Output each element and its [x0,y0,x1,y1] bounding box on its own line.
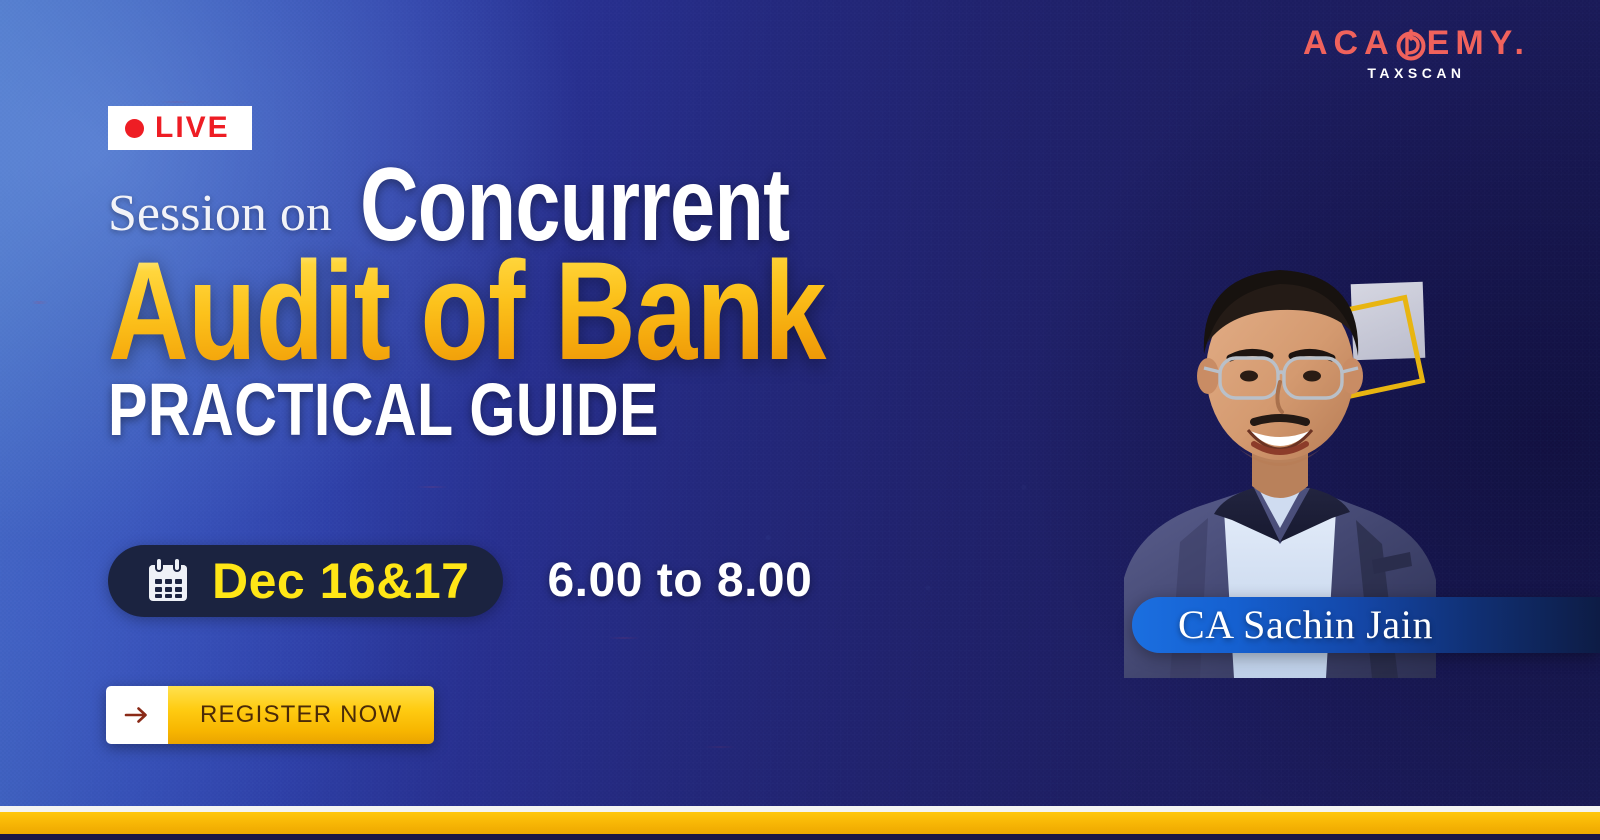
schedule-row: Dec 16&17 6.00 to 8.00 [108,545,812,617]
speaker-name-plate: CA Sachin Jain [1132,597,1600,653]
session-date: Dec 16&17 [212,556,469,606]
calendar-icon [146,558,190,604]
bottom-dark-edge [0,834,1600,840]
bottom-gold-bar [0,812,1600,834]
brand-logo-d-icon [1396,27,1426,59]
brand-logo-subtext: TAXSCAN [1303,66,1530,80]
speaker-name: CA Sachin Jain [1178,605,1433,645]
webinar-banner: ACA EMY. TAXSCAN LIVE Session on Concurr… [0,0,1600,840]
brand-logo-wordmark: ACA EMY. [1303,26,1530,60]
live-badge-label: LIVE [155,113,230,143]
register-now-button[interactable]: REGISTER NOW [106,686,434,744]
date-pill: Dec 16&17 [108,545,503,617]
brand-logo-word-pre: ACA [1303,26,1395,60]
register-now-label: REGISTER NOW [168,686,434,744]
live-badge: LIVE [108,106,252,150]
headline-block: LIVE Session on Concurrent Audit of Bank… [108,106,1008,444]
brand-logo-word-post: EMY. [1427,26,1530,60]
headline-line-subtitle: PRACTICAL GUIDE [108,376,828,444]
headline-line-gold: Audit of Banks [108,248,828,374]
session-time: 6.00 to 8.00 [547,557,812,605]
live-dot-icon [125,119,144,138]
brand-logo[interactable]: ACA EMY. TAXSCAN [1303,26,1530,80]
arrow-right-icon [106,686,168,744]
